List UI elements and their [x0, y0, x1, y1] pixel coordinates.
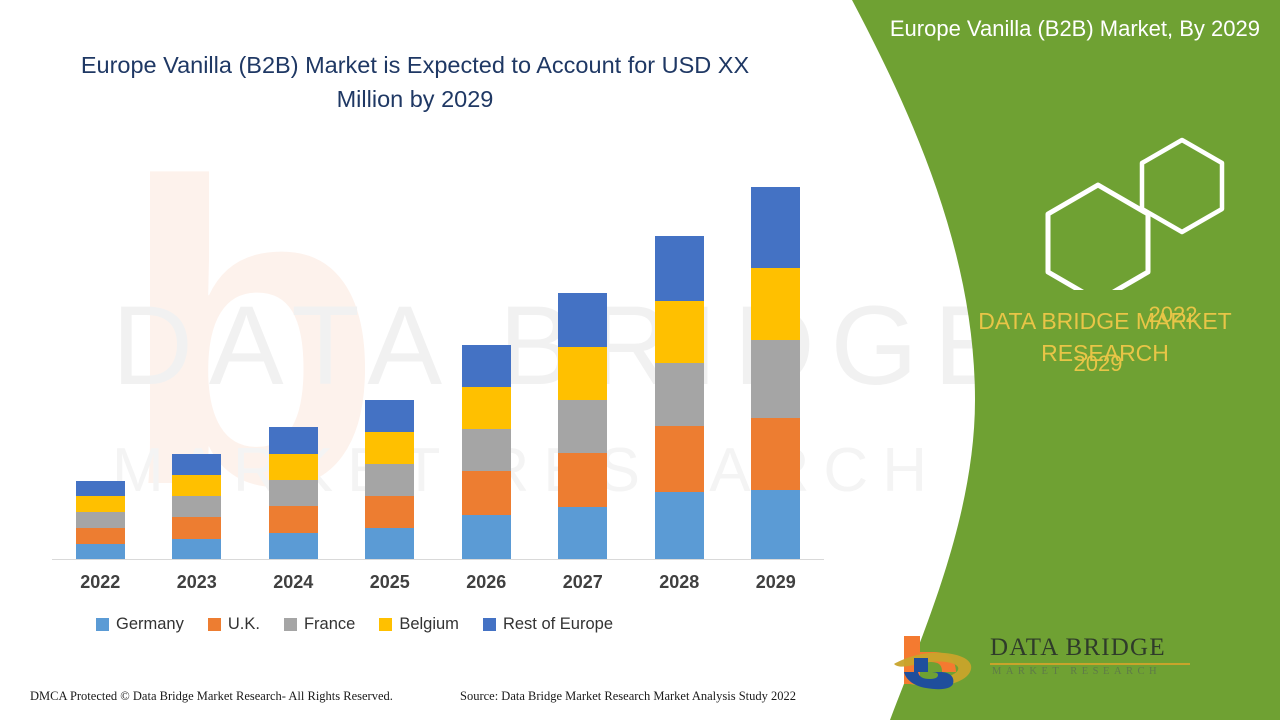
bar-segment-u-k: [655, 426, 704, 492]
bar-slot: [52, 160, 149, 560]
legend-label: U.K.: [228, 615, 260, 634]
bar-segment-belgium: [655, 301, 704, 363]
legend-swatch-icon: [284, 618, 297, 631]
legend-item-germany[interactable]: Germany: [96, 615, 184, 634]
bar-segment-belgium: [462, 387, 511, 429]
x-axis-label-2024: 2024: [245, 572, 342, 593]
bar-segment-france: [365, 464, 414, 496]
stacked-bar-chart: [52, 160, 824, 560]
x-axis-label-2025: 2025: [342, 572, 439, 593]
chart-title: Europe Vanilla (B2B) Market is Expected …: [60, 48, 770, 116]
hexagon-shapes: [960, 130, 1260, 290]
bar-segment-belgium: [172, 475, 221, 496]
bar-segment-belgium: [365, 432, 414, 464]
x-axis-label-2027: 2027: [535, 572, 632, 593]
bar-segment-germany: [76, 544, 125, 560]
legend-swatch-icon: [379, 618, 392, 631]
bar-segment-rest-of-europe: [558, 293, 607, 347]
bar-segment-belgium: [558, 347, 607, 400]
stacked-bar-2025: [365, 400, 414, 560]
bar-segment-rest-of-europe: [462, 345, 511, 387]
legend-label: Rest of Europe: [503, 615, 613, 634]
legend-item-rest-of-europe[interactable]: Rest of Europe: [483, 615, 613, 634]
x-axis-label-2022: 2022: [52, 572, 149, 593]
bar-segment-france: [269, 480, 318, 506]
panel-brand-name: DATA BRIDGE MARKET RESEARCH: [955, 305, 1255, 369]
chart-plot-area: [52, 160, 824, 560]
logo-mark-icon: [890, 632, 985, 692]
legend-swatch-icon: [483, 618, 496, 631]
stacked-bar-2028: [655, 236, 704, 560]
legend-label: France: [304, 615, 355, 634]
bar-segment-france: [172, 496, 221, 517]
bar-slot: [631, 160, 728, 560]
stacked-bar-2027: [558, 293, 607, 560]
stacked-bar-2022: [76, 481, 125, 560]
bar-segment-france: [462, 429, 511, 471]
bar-segment-u-k: [76, 528, 125, 544]
logo-name: DATA BRIDGE: [990, 634, 1166, 662]
bar-segment-u-k: [558, 453, 607, 507]
chart-legend: GermanyU.K.FranceBelgiumRest of Europe: [96, 615, 796, 634]
hexagon-group: 2022 2029: [960, 130, 1260, 290]
bar-segment-germany: [269, 533, 318, 560]
bar-slot: [342, 160, 439, 560]
footer-source: Source: Data Bridge Market Research Mark…: [460, 689, 796, 704]
legend-item-france[interactable]: France: [284, 615, 355, 634]
x-axis-label-2023: 2023: [149, 572, 246, 593]
hexagon-2022: [1142, 140, 1222, 232]
bar-segment-germany: [172, 539, 221, 560]
legend-label: Germany: [116, 615, 184, 634]
bar-segment-germany: [655, 492, 704, 560]
bar-segment-u-k: [365, 496, 414, 528]
bar-segment-france: [655, 363, 704, 426]
logo-tagline: MARKET RESEARCH: [992, 666, 1161, 677]
bar-segment-u-k: [269, 506, 318, 533]
logo-divider: [990, 663, 1190, 665]
bar-segment-rest-of-europe: [172, 454, 221, 475]
bar-segment-france: [558, 400, 607, 453]
bar-segment-rest-of-europe: [365, 400, 414, 432]
stacked-bar-2024: [269, 427, 318, 560]
bar-segment-u-k: [462, 471, 511, 515]
stacked-bar-2023: [172, 454, 221, 560]
footer-copyright: DMCA Protected © Data Bridge Market Rese…: [30, 689, 393, 704]
bar-slot: [438, 160, 535, 560]
legend-swatch-icon: [96, 618, 109, 631]
bar-segment-rest-of-europe: [655, 236, 704, 301]
legend-swatch-icon: [208, 618, 221, 631]
legend-item-belgium[interactable]: Belgium: [379, 615, 459, 634]
x-axis-label-2028: 2028: [631, 572, 728, 593]
green-side-panel: Europe Vanilla (B2B) Market, By 2029 202…: [770, 0, 1280, 720]
x-axis-label-2026: 2026: [438, 572, 535, 593]
x-axis-labels: 20222023202420252026202720282029: [52, 572, 824, 593]
bar-segment-u-k: [172, 517, 221, 539]
data-bridge-logo: DATA BRIDGE MARKET RESEARCH: [890, 632, 1230, 694]
stacked-bar-2026: [462, 345, 511, 560]
bar-segment-rest-of-europe: [76, 481, 125, 496]
bar-segment-germany: [558, 507, 607, 560]
infographic-canvas: b DATA BRIDGE MARKET RESEARCH Europe Van…: [0, 0, 1280, 720]
bar-segment-belgium: [269, 454, 318, 480]
bar-segment-belgium: [76, 496, 125, 512]
legend-label: Belgium: [399, 615, 459, 634]
bar-slot: [149, 160, 246, 560]
bar-slot: [535, 160, 632, 560]
panel-title: Europe Vanilla (B2B) Market, By 2029: [878, 12, 1260, 45]
hexagon-2029: [1048, 185, 1148, 290]
bar-segment-germany: [462, 515, 511, 560]
bar-segment-france: [76, 512, 125, 528]
bar-segment-rest-of-europe: [269, 427, 318, 454]
x-axis-line: [52, 559, 824, 560]
bar-slot: [245, 160, 342, 560]
bar-segment-germany: [365, 528, 414, 560]
legend-item-u-k[interactable]: U.K.: [208, 615, 260, 634]
